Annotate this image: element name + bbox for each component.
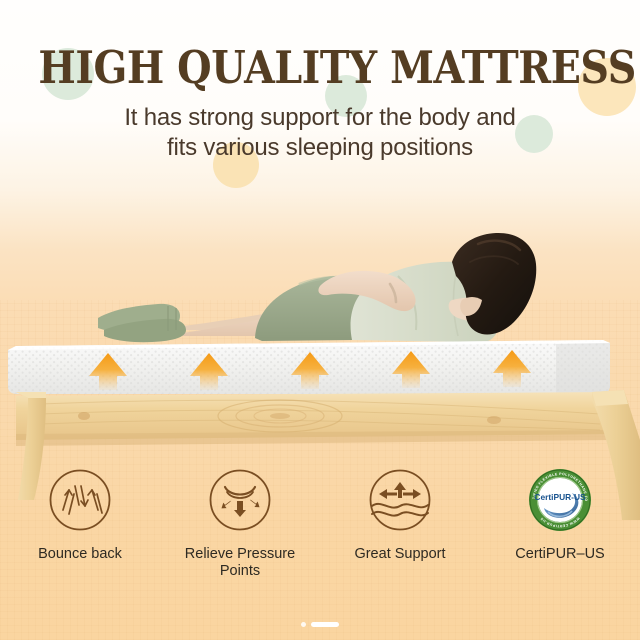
feature-label: Bounce back — [38, 546, 122, 563]
feature-item-relieve-pressure[interactable]: Relieve Pressure Points — [160, 468, 320, 580]
feature-label-line-2: Points — [185, 563, 295, 580]
page-subtitle: It has strong support for the body and f… — [0, 103, 640, 162]
feature-label: Relieve Pressure Points — [185, 546, 295, 580]
feature-row: Bounce back Relieve Pressure Points — [0, 468, 640, 580]
certipur-us-badge: CertiPUR-US CERTIFIED FLEXIBLE POLYURETH… — [528, 468, 592, 532]
bounce-back-icon — [48, 468, 112, 532]
carousel-indicator[interactable] — [0, 622, 640, 627]
subtitle-line-2: fits various sleeping positions — [0, 133, 640, 162]
great-support-icon — [368, 468, 432, 532]
person-illustration — [98, 233, 536, 342]
carousel-dot-active[interactable] — [311, 622, 339, 627]
certipur-center-text: CertiPUR-US — [534, 492, 586, 502]
subtitle-line-1: It has strong support for the body and — [0, 103, 640, 132]
header-block: HIGH QUALITY MATTRESS It has strong supp… — [0, 44, 640, 162]
product-banner: HIGH QUALITY MATTRESS It has strong supp… — [0, 0, 640, 640]
carousel-dot[interactable] — [301, 622, 306, 627]
feature-item-great-support[interactable]: Great Support — [320, 468, 480, 580]
page-title: HIGH QUALITY MATTRESS — [38, 44, 601, 91]
feature-label: CertiPUR–US — [515, 546, 604, 563]
feature-label-line-1: Relieve Pressure — [185, 546, 295, 563]
feature-item-bounce-back[interactable]: Bounce back — [0, 468, 160, 580]
relieve-pressure-icon — [208, 468, 272, 532]
feature-label: Great Support — [354, 546, 445, 563]
feature-item-certipur[interactable]: CertiPUR-US CERTIFIED FLEXIBLE POLYURETH… — [480, 468, 640, 580]
